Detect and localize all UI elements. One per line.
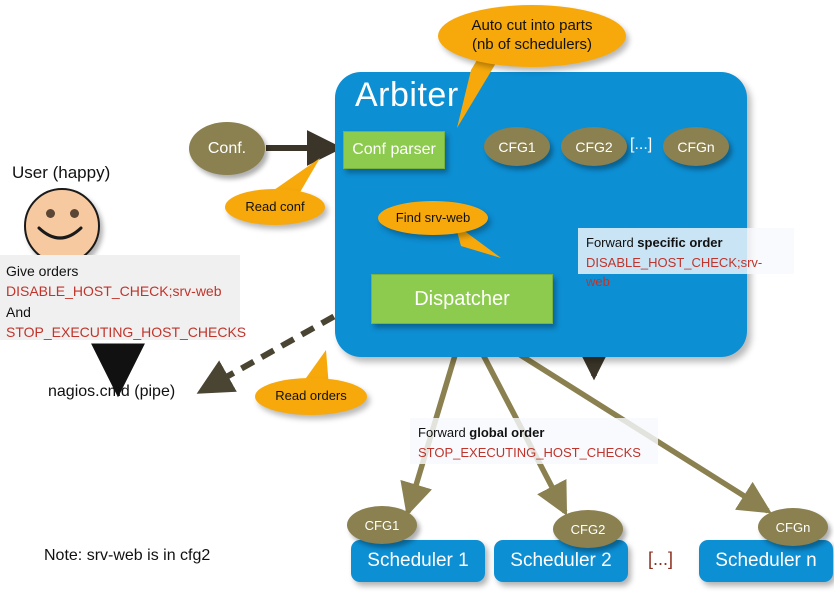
order-command-2: STOP_EXECUTING_HOST_CHECKS — [6, 322, 234, 342]
dispatcher-label: Dispatcher — [414, 288, 510, 311]
forward-global-emphasis: global order — [469, 425, 544, 440]
arbiter-cfg2-label: CFG2 — [575, 139, 612, 155]
scheduler-2-label: Scheduler 2 — [510, 550, 611, 572]
avatar-right-eye-icon — [70, 209, 79, 218]
dispatcher-node[interactable]: Dispatcher — [371, 274, 553, 324]
scheduler-2-node[interactable]: Scheduler 2 — [494, 540, 628, 582]
forward-specific-order-panel: Forward specific order DISABLE_HOST_CHEC… — [578, 228, 794, 274]
scheduler-row-ellipsis: [...] — [648, 549, 673, 570]
arbiter-cfg1-label: CFG1 — [498, 139, 535, 155]
forward-specific-command: DISABLE_HOST_CHECK;srv-web — [586, 253, 786, 292]
arbiter-cfg-ellipsis: [...] — [630, 136, 652, 154]
scheduler-1-cfg-label: CFG1 — [365, 518, 400, 533]
arbiter-cfg1-node[interactable]: CFG1 — [484, 127, 550, 166]
forward-global-order-panel: Forward global order STOP_EXECUTING_HOST… — [410, 418, 658, 464]
forward-specific-emphasis: specific order — [637, 235, 722, 250]
scheduler-1-label: Scheduler 1 — [367, 550, 468, 572]
read-conf-bubble: Read conf — [225, 189, 325, 225]
conf-source-node[interactable]: Conf. — [189, 122, 265, 175]
read-conf-label: Read conf — [245, 199, 304, 215]
orders-conjunction: And — [6, 302, 234, 322]
diagram-canvas: Arbiter Conf parser Dispatcher Conf. CFG… — [0, 0, 834, 595]
scheduler-n-cfg-badge[interactable]: CFGn — [758, 508, 828, 546]
scheduler-n-label: Scheduler n — [715, 550, 816, 572]
auto-cut-line-2: (nb of schedulers) — [472, 36, 593, 55]
scheduler-2-cfg-label: CFG2 — [571, 522, 606, 537]
scheduler-1-node[interactable]: Scheduler 1 — [351, 540, 485, 582]
user-label: User (happy) — [12, 163, 110, 183]
conf-source-label: Conf. — [208, 140, 246, 158]
avatar-smile-icon — [36, 224, 86, 252]
forward-global-command: STOP_EXECUTING_HOST_CHECKS — [418, 443, 650, 463]
scheduler-n-node[interactable]: Scheduler n — [699, 540, 833, 582]
arbiter-cfgn-label: CFGn — [677, 139, 714, 155]
find-srv-web-label: Find srv-web — [396, 210, 470, 226]
arbiter-title: Arbiter — [355, 76, 459, 115]
avatar-left-eye-icon — [46, 209, 55, 218]
auto-cut-bubble: Auto cut into parts (nb of schedulers) — [438, 5, 626, 67]
forward-global-prefix: Forward — [418, 425, 469, 440]
footer-note: Note: srv-web is in cfg2 — [44, 547, 210, 565]
scheduler-n-cfg-label: CFGn — [776, 520, 811, 535]
forward-specific-prefix: Forward — [586, 235, 637, 250]
arbiter-cfg2-node[interactable]: CFG2 — [561, 127, 627, 166]
scheduler-1-cfg-badge[interactable]: CFG1 — [347, 506, 417, 544]
conf-parser-label: Conf parser — [352, 141, 436, 159]
orders-title: Give orders — [6, 261, 234, 281]
order-command-1: DISABLE_HOST_CHECK;srv-web — [6, 281, 234, 301]
arbiter-cfgn-node[interactable]: CFGn — [663, 127, 729, 166]
user-orders-panel: Give orders DISABLE_HOST_CHECK;srv-web A… — [0, 255, 240, 340]
auto-cut-line-1: Auto cut into parts — [472, 17, 593, 36]
read-orders-bubble: Read orders — [255, 378, 367, 415]
scheduler-2-cfg-badge[interactable]: CFG2 — [553, 510, 623, 548]
nagios-cmd-pipe-label: nagios.cmd (pipe) — [48, 383, 175, 401]
read-orders-label: Read orders — [275, 388, 347, 404]
conf-parser-node[interactable]: Conf parser — [343, 131, 445, 169]
find-srv-web-bubble: Find srv-web — [378, 201, 488, 235]
